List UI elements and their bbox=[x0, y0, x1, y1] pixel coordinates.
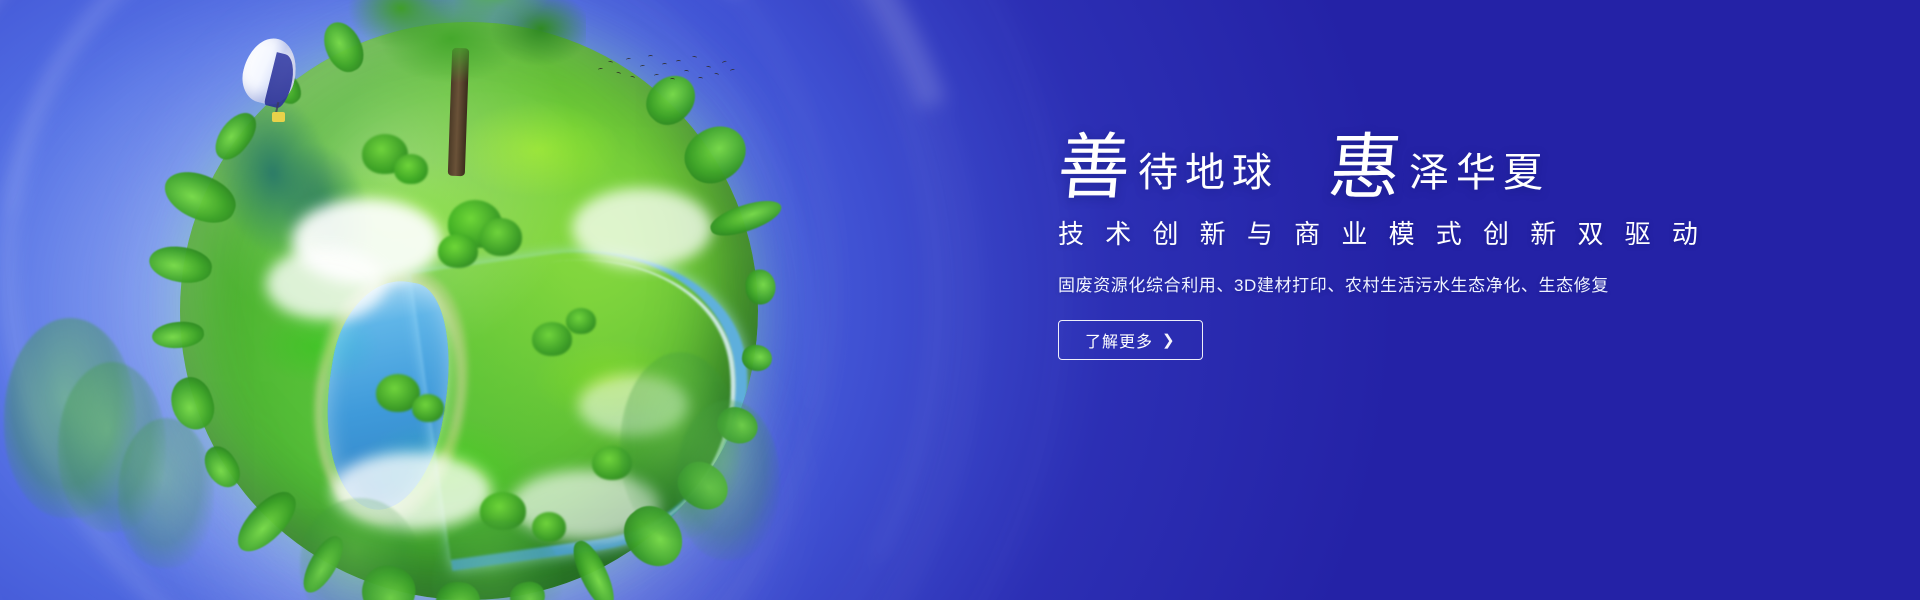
hero-subtitle: 技 术 创 新 与 商 业 模 式 创 新 双 驱 动 bbox=[1058, 214, 1678, 251]
surface-cloud-2 bbox=[266, 248, 386, 320]
bird-icon bbox=[698, 77, 703, 80]
bird-icon bbox=[706, 66, 711, 70]
shrub bbox=[412, 394, 444, 422]
bird-icon bbox=[626, 58, 631, 62]
bird-icon bbox=[714, 72, 720, 76]
headline-char-shan: 善 bbox=[1055, 132, 1133, 204]
bird-icon bbox=[676, 60, 681, 63]
hot-air-balloon bbox=[238, 38, 302, 134]
surface-cloud-1 bbox=[292, 198, 442, 284]
bird-icon bbox=[654, 74, 659, 78]
learn-more-label: 了解更多 bbox=[1085, 328, 1153, 352]
bird-icon bbox=[662, 63, 667, 66]
shrub bbox=[480, 218, 522, 256]
shrub bbox=[376, 374, 420, 412]
headline-char-hui: 惠 bbox=[1326, 132, 1404, 204]
bird-flock bbox=[596, 52, 736, 98]
bird-icon bbox=[684, 70, 689, 73]
hero-content: 善 待地球 惠 泽华夏 技 术 创 新 与 商 业 模 式 创 新 双 驱 动 … bbox=[1058, 132, 1678, 360]
bird-icon bbox=[670, 78, 675, 81]
hero-tree bbox=[336, 0, 586, 170]
outer-tree bbox=[118, 418, 214, 568]
shrub bbox=[438, 234, 478, 268]
lake bbox=[311, 272, 464, 518]
bird-icon bbox=[598, 68, 603, 72]
bird-icon bbox=[722, 60, 728, 65]
outer-tree bbox=[676, 400, 780, 560]
shrub bbox=[566, 308, 596, 334]
bird-icon bbox=[640, 65, 645, 69]
bird-icon bbox=[608, 61, 613, 65]
chevron-right-icon: ❯ bbox=[1162, 333, 1176, 348]
hero-tree-canopy bbox=[336, 0, 586, 100]
lake-shoreline bbox=[295, 260, 485, 535]
bird-icon bbox=[730, 68, 736, 72]
headline-text-zehuaxia: 泽华夏 bbox=[1409, 153, 1550, 193]
bird-icon bbox=[630, 75, 636, 79]
headline-text-daidiqiu: 待地球 bbox=[1138, 153, 1279, 193]
bird-icon bbox=[616, 71, 622, 75]
bird-icon bbox=[692, 56, 697, 60]
page-title: 善 待地球 惠 泽华夏 bbox=[1058, 132, 1678, 204]
balloon-basket bbox=[272, 112, 285, 122]
learn-more-button[interactable]: 了解更多 ❯ bbox=[1058, 320, 1203, 360]
bird-icon bbox=[648, 55, 653, 58]
surface-cloud-3 bbox=[572, 188, 712, 268]
hero-banner: 善 待地球 惠 泽华夏 技 术 创 新 与 商 业 模 式 创 新 双 驱 动 … bbox=[0, 0, 1920, 600]
hero-description: 固废资源化综合利用、3D建材打印、农村生活污水生态净化、生态修复 bbox=[1058, 271, 1678, 296]
shrub bbox=[532, 322, 572, 356]
shrub bbox=[448, 200, 502, 248]
